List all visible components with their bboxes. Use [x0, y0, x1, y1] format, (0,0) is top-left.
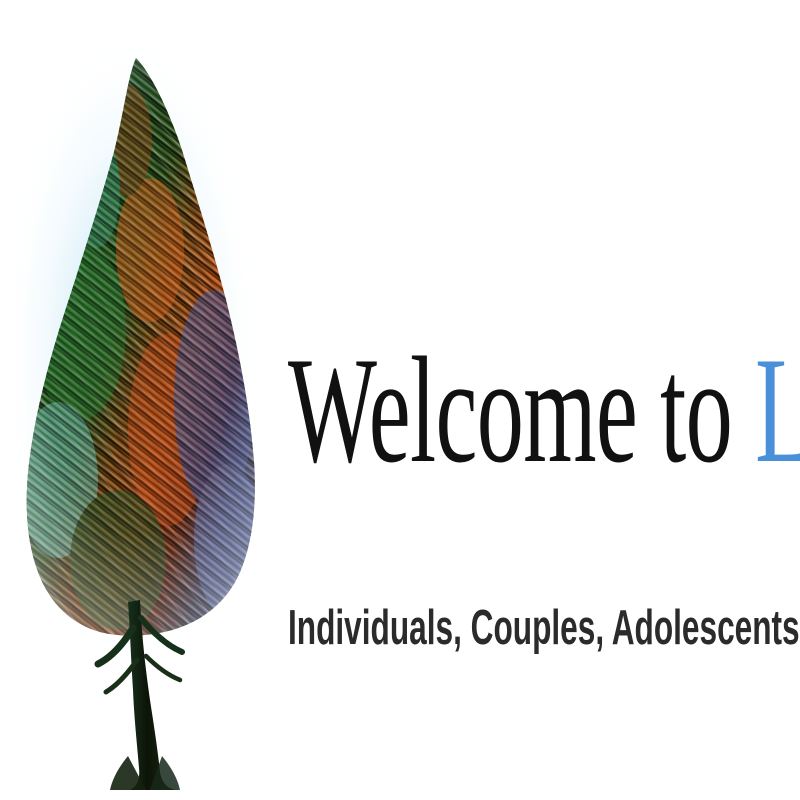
headline-primary-text: Welcome to [288, 326, 755, 494]
page-title: Welcome to Life Changes [288, 330, 601, 490]
tree-illustration-icon [0, 0, 290, 800]
headline-accent-text: Life Changes [755, 326, 800, 494]
tree-canopy [0, 30, 290, 650]
wordmark-block: Welcome to Life Changes Individuals, Cou… [288, 330, 793, 670]
tree-logo [0, 0, 290, 800]
tagline: Individuals, Couples, Adolescents & Fami… [288, 602, 614, 654]
welcome-banner: Welcome to Life Changes Individuals, Cou… [0, 0, 800, 800]
